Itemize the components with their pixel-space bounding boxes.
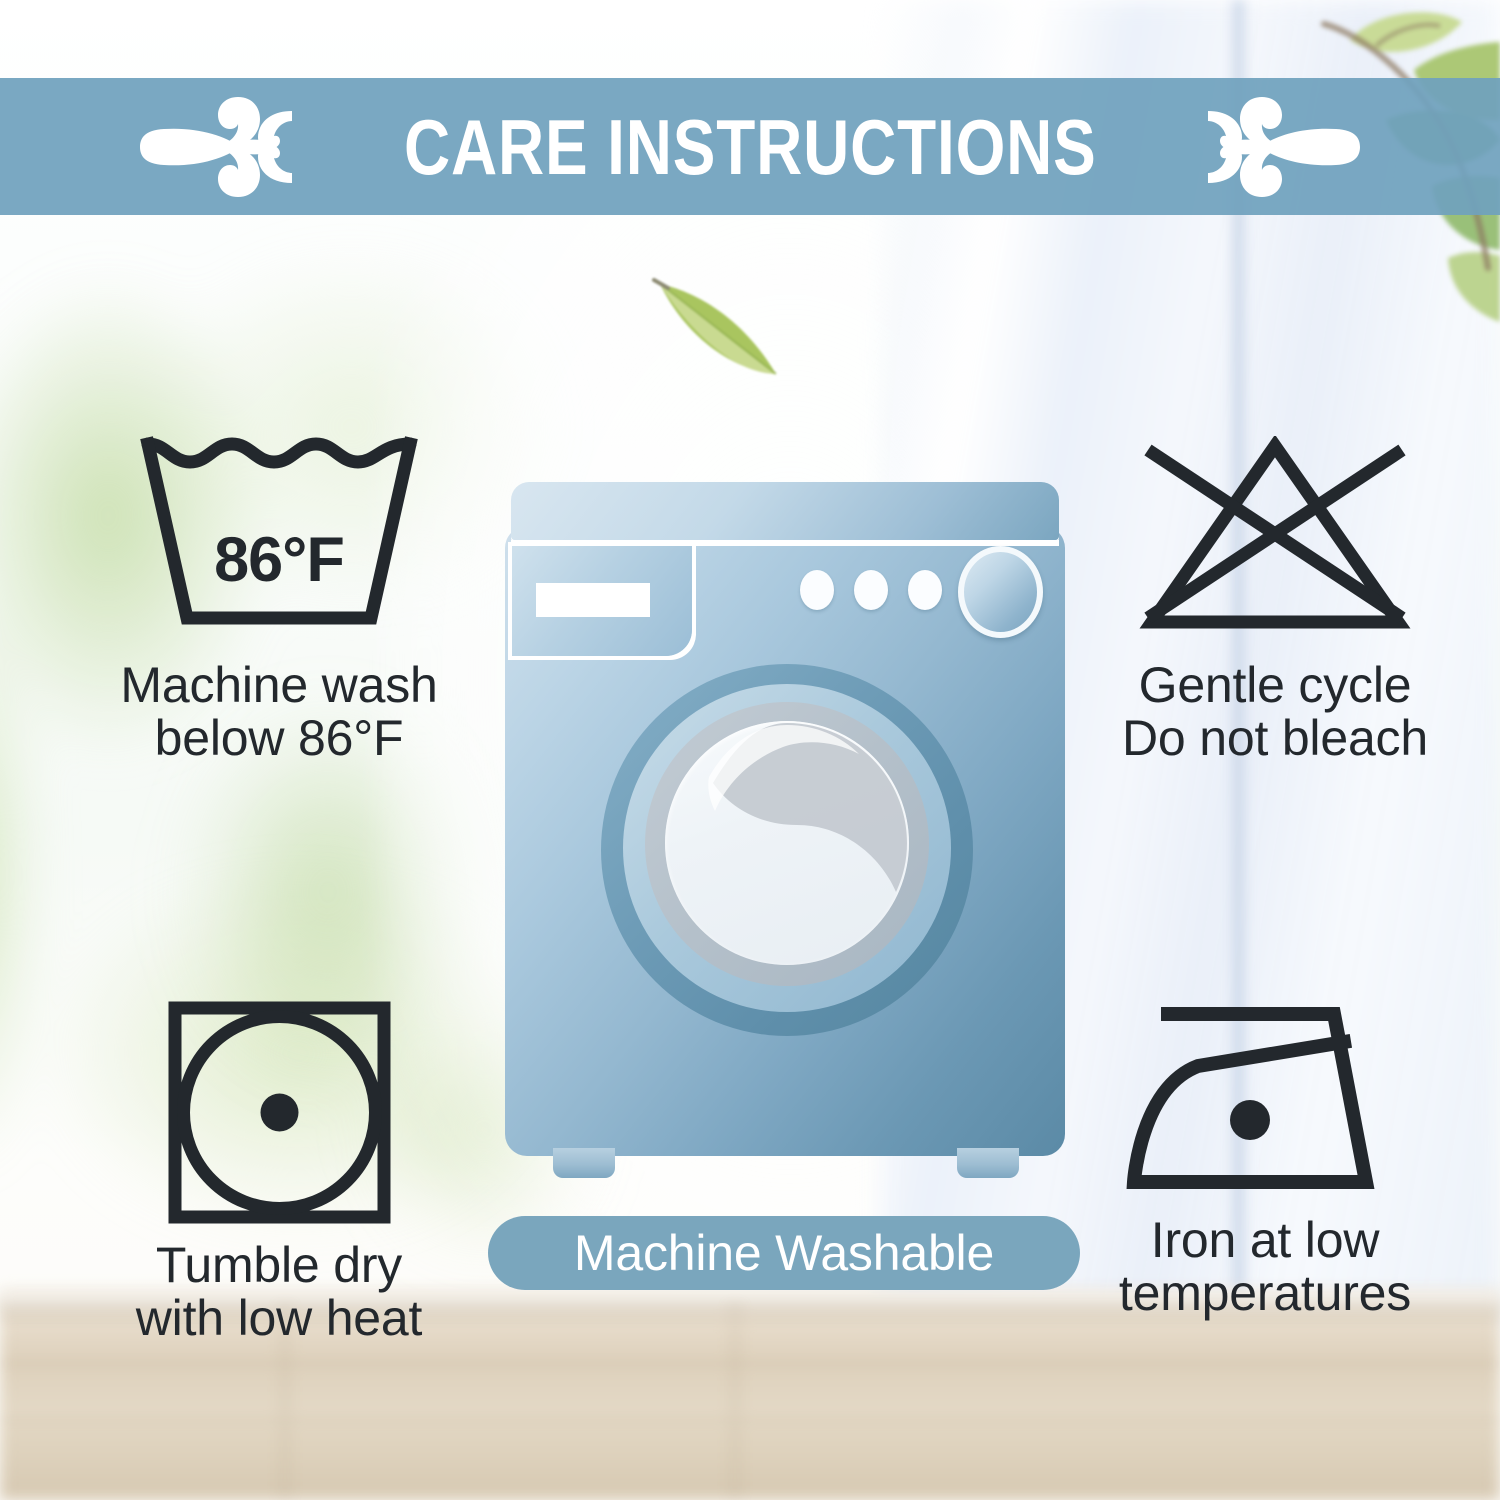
wash-temperature-value: 86°F xyxy=(134,524,424,596)
washer-indicator-light xyxy=(800,570,834,610)
care-symbol-caption: Gentle cycle Do not bleach xyxy=(1122,659,1428,765)
washer-indicator-light xyxy=(854,570,888,610)
care-instructions-graphic: CARE INSTRUCTIONS 86°F Machine wash belo… xyxy=(0,0,1500,1500)
washer-detergent-drawer xyxy=(512,546,692,656)
status-badge: Machine Washable xyxy=(488,1216,1080,1290)
washer-indicator-lights xyxy=(800,570,942,610)
wash-tub-icon: 86°F xyxy=(134,436,424,641)
page-title: CARE INSTRUCTIONS xyxy=(404,108,1097,186)
header-banner: CARE INSTRUCTIONS xyxy=(0,78,1500,215)
washer-program-knob xyxy=(958,546,1043,638)
washer-door-mid-ring xyxy=(623,684,951,1012)
washer-door-outer-ring xyxy=(601,664,973,1036)
washer-foot-right xyxy=(957,1148,1019,1178)
iron-one-dot-icon xyxy=(1120,1000,1410,1200)
washer-door-inner-ring xyxy=(645,702,929,986)
triangle-crossed-out-icon xyxy=(1130,436,1420,641)
care-symbol-caption: Tumble dry with low heat xyxy=(136,1239,422,1345)
fleur-de-lis-icon-left xyxy=(140,95,292,199)
care-symbol-caption: Iron at low temperatures xyxy=(1119,1214,1411,1320)
fleur-de-lis-icon-right xyxy=(1208,95,1360,199)
care-symbol-machine-wash: 86°F Machine wash below 86°F xyxy=(44,436,514,765)
care-symbol-caption: Machine wash below 86°F xyxy=(120,659,437,765)
leaf-icon xyxy=(652,278,792,388)
washing-machine-illustration xyxy=(505,482,1065,1182)
care-symbol-iron-low: Iron at low temperatures xyxy=(1030,1000,1500,1320)
tumble-dry-low-icon xyxy=(167,1000,392,1225)
washer-door-glass xyxy=(665,721,909,965)
care-symbol-tumble-dry: Tumble dry with low heat xyxy=(44,1000,514,1345)
washer-indicator-light xyxy=(908,570,942,610)
washer-drawer-slot xyxy=(536,583,650,617)
status-badge-label: Machine Washable xyxy=(574,1228,994,1278)
care-symbol-do-not-bleach: Gentle cycle Do not bleach xyxy=(1040,436,1500,765)
washer-foot-left xyxy=(553,1148,615,1178)
washer-top-panel xyxy=(511,482,1059,540)
